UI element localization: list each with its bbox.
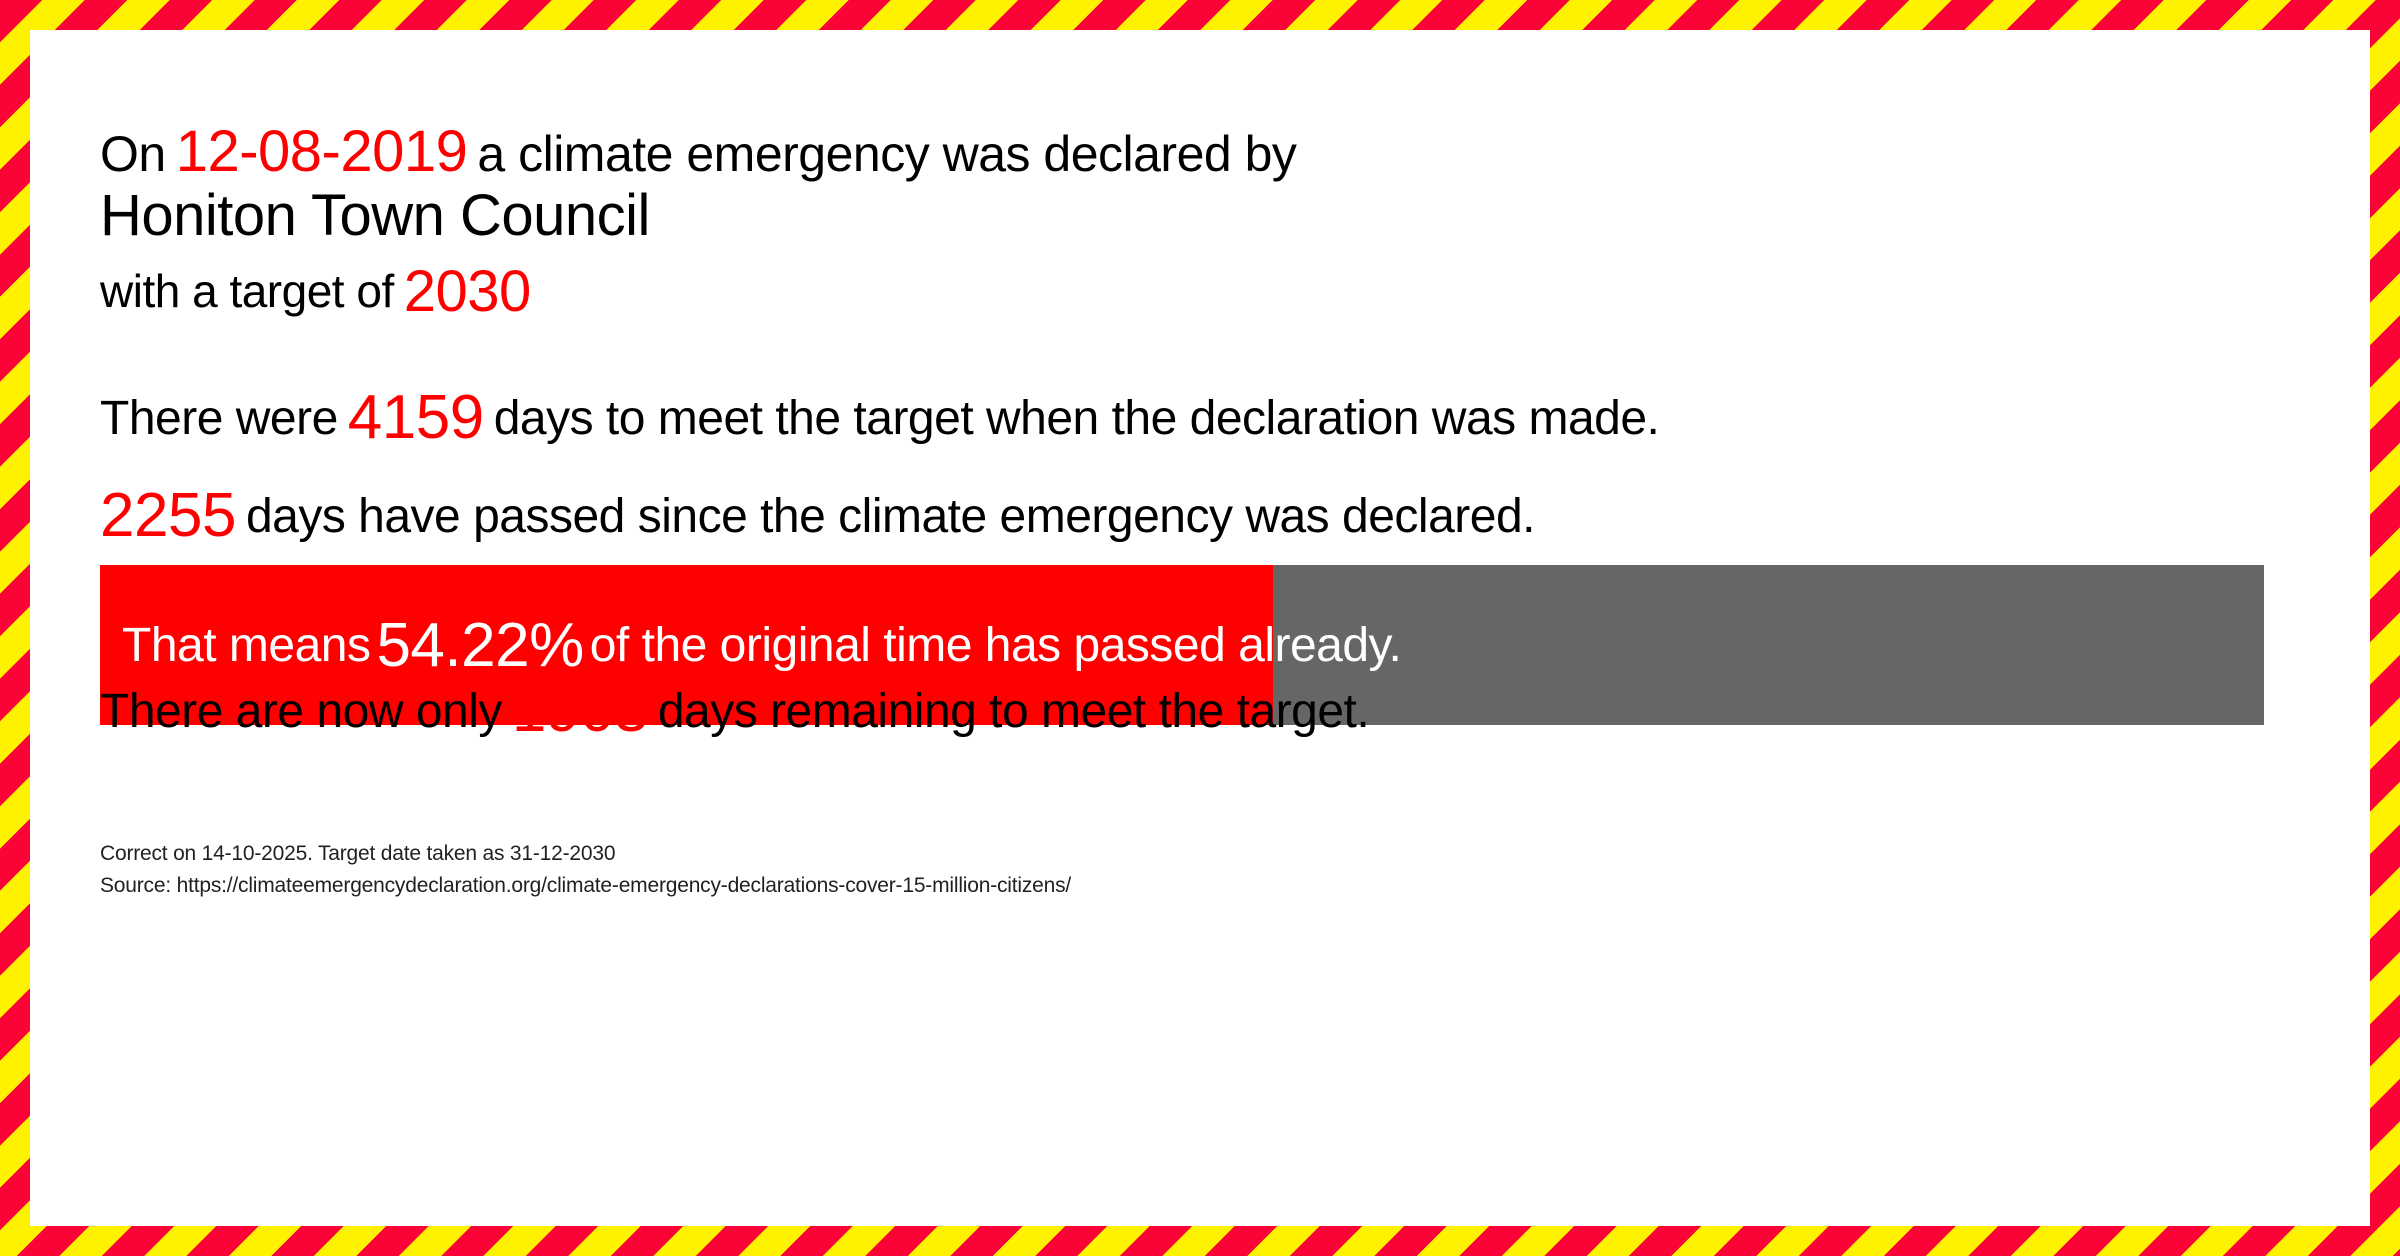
progress-percent-value: 54.22% (370, 610, 589, 681)
elapsed-days-line: 2255days have passed since the climate e… (100, 480, 1535, 551)
remaining-prefix-text: There are now only (100, 685, 502, 738)
progress-label-prefix-text: That means (122, 618, 370, 673)
intro-suffix-text: a climate emergency was declared by (477, 126, 1296, 182)
remaining-suffix-text: days remaining to meet the target. (658, 685, 1369, 738)
original-days-line: There were4159days to meet the target wh… (100, 382, 1659, 453)
target-year-line: with a target of2030 (100, 258, 531, 325)
card-inner-panel: On12-08-2019a climate emergency was decl… (30, 30, 2370, 1226)
elapsed-days-value: 2255 (100, 481, 236, 550)
declaring-authority-name: Honiton Town Council (100, 182, 650, 249)
declaration-date-value: 12-08-2019 (176, 119, 468, 184)
elapsed-days-suffix-text: days have passed since the climate emerg… (246, 490, 1535, 543)
target-prefix-text: with a target of (100, 265, 394, 317)
climate-emergency-card: On12-08-2019a climate emergency was decl… (0, 0, 2400, 1256)
card-content: On12-08-2019a climate emergency was decl… (100, 30, 2300, 1226)
remaining-days-line: There are now only1903days remaining to … (100, 675, 1369, 746)
progress-label-suffix-text: of the original time has passed already. (590, 618, 1402, 673)
target-year-value: 2030 (404, 259, 531, 324)
footer-notes: Correct on 14-10-2025. Target date taken… (100, 838, 1071, 902)
intro-prefix-text: On (100, 126, 166, 182)
remaining-days-value: 1903 (512, 676, 648, 745)
declaration-intro-line: On12-08-2019a climate emergency was decl… (100, 118, 1296, 185)
footer-correct-on-text: Correct on 14-10-2025. Target date taken… (100, 838, 1071, 870)
original-days-prefix-text: There were (100, 392, 338, 445)
original-days-suffix-text: days to meet the target when the declara… (494, 392, 1660, 445)
original-days-value: 4159 (348, 383, 484, 452)
footer-source-text: Source: https://climateemergencydeclarat… (100, 870, 1071, 902)
